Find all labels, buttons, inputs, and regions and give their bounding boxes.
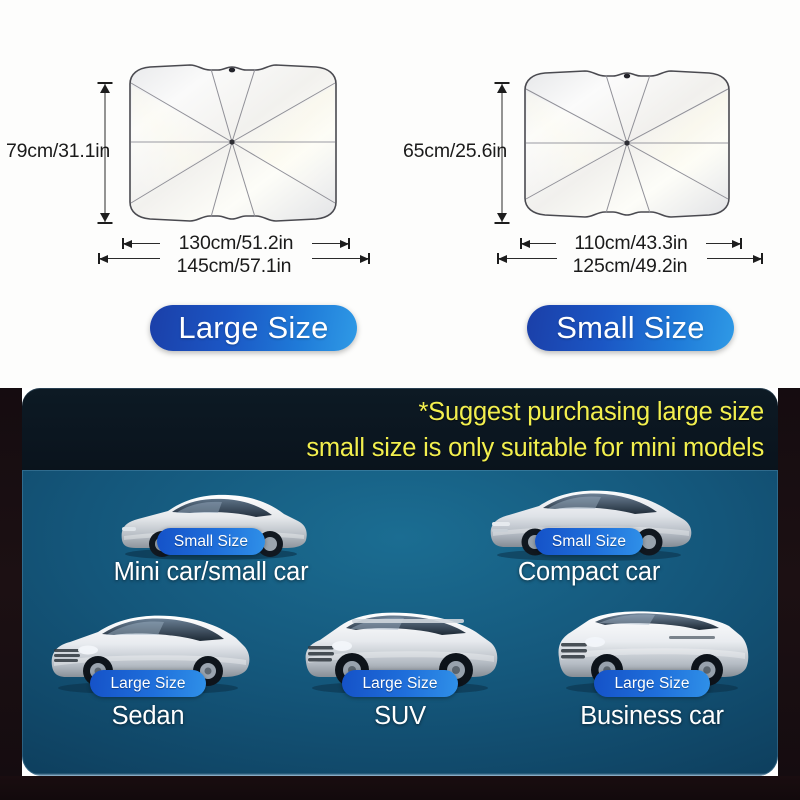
large-height-label: 79cm/31.1in xyxy=(6,140,110,163)
vehicle-row-large: Large Size Sedan xyxy=(22,602,778,770)
vehicle-cell-sedan[interactable]: Large Size Sedan xyxy=(22,602,274,770)
label-compact-car: Compact car xyxy=(400,558,778,587)
vehicle-cell-suv[interactable]: Large Size SUV xyxy=(274,602,526,770)
right-dark-edge xyxy=(778,388,800,776)
badge-compact-car-label: Small Size xyxy=(552,533,626,551)
small-sunshade-illustration xyxy=(515,68,739,220)
vehicle-cell-compact-car[interactable]: Small Size Compact car xyxy=(400,476,778,602)
badge-mini-car[interactable]: Small Size xyxy=(157,528,265,555)
purchase-notice-banner: *Suggest purchasing large size small siz… xyxy=(22,388,778,472)
left-dark-edge xyxy=(0,388,22,776)
small-size-pill[interactable]: Small Size xyxy=(527,305,734,351)
vehicle-compatibility-panel: Small Size Mini car/small car xyxy=(22,470,778,776)
large-width-inner-label: 130cm/51.2in xyxy=(122,232,350,255)
label-mini-car: Mini car/small car xyxy=(22,558,400,587)
badge-business-car-label: Large Size xyxy=(614,675,689,693)
badge-suv-label: Large Size xyxy=(362,675,437,693)
badge-mini-car-label: Small Size xyxy=(174,533,248,551)
vehicle-cell-mini-car[interactable]: Small Size Mini car/small car xyxy=(22,476,400,602)
bottom-dark-strip xyxy=(0,776,800,800)
small-size-pill-label: Small Size xyxy=(556,310,704,346)
size-spec-section: 79cm/31.1in xyxy=(0,0,800,388)
spec-small-size: 65cm/25.6in xyxy=(400,0,800,388)
large-sunshade-illustration xyxy=(118,62,348,224)
large-size-pill[interactable]: Large Size xyxy=(150,305,357,351)
notice-line-1: *Suggest purchasing large size xyxy=(306,394,764,430)
infographic-root: 79cm/31.1in xyxy=(0,0,800,800)
spec-large-size: 79cm/31.1in xyxy=(0,0,400,388)
vehicle-row-small: Small Size Mini car/small car xyxy=(22,476,778,602)
badge-business-car[interactable]: Large Size xyxy=(594,670,710,697)
small-height-label: 65cm/25.6in xyxy=(403,140,507,163)
badge-sedan-label: Large Size xyxy=(110,675,185,693)
label-business-car: Business car xyxy=(526,702,778,731)
vehicle-cell-business-car[interactable]: Large Size Business car xyxy=(526,602,778,770)
large-width-outer-label: 145cm/57.1in xyxy=(98,255,370,278)
notice-line-2: small size is only suitable for mini mod… xyxy=(306,430,764,466)
label-suv: SUV xyxy=(274,702,526,731)
purchase-notice-text: *Suggest purchasing large size small siz… xyxy=(306,394,764,466)
large-size-pill-label: Large Size xyxy=(178,310,328,346)
badge-sedan[interactable]: Large Size xyxy=(90,670,206,697)
badge-suv[interactable]: Large Size xyxy=(342,670,458,697)
small-width-outer-label: 125cm/49.2in xyxy=(497,255,763,278)
label-sedan: Sedan xyxy=(22,702,274,731)
badge-compact-car[interactable]: Small Size xyxy=(535,528,643,555)
small-width-inner-label: 110cm/43.3in xyxy=(520,232,742,255)
